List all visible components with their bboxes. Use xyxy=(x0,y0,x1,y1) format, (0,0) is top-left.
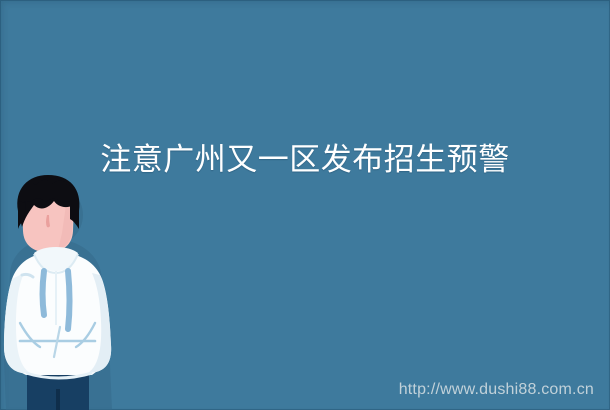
drawstring-right xyxy=(68,271,70,329)
pants-gap xyxy=(56,389,60,410)
boy-in-white-hoodie-illustration xyxy=(0,175,135,410)
page-title: 注意广州又一区发布招生预警 xyxy=(0,140,610,180)
drawstring-left xyxy=(43,271,45,315)
watermark-url: http://www.dushi88.com.cn xyxy=(399,380,594,400)
news-thumbnail-banner: 注意广州又一区发布招生预警 http://www.dushi88.com.cn xyxy=(0,0,610,410)
hoodie-body xyxy=(4,253,111,375)
